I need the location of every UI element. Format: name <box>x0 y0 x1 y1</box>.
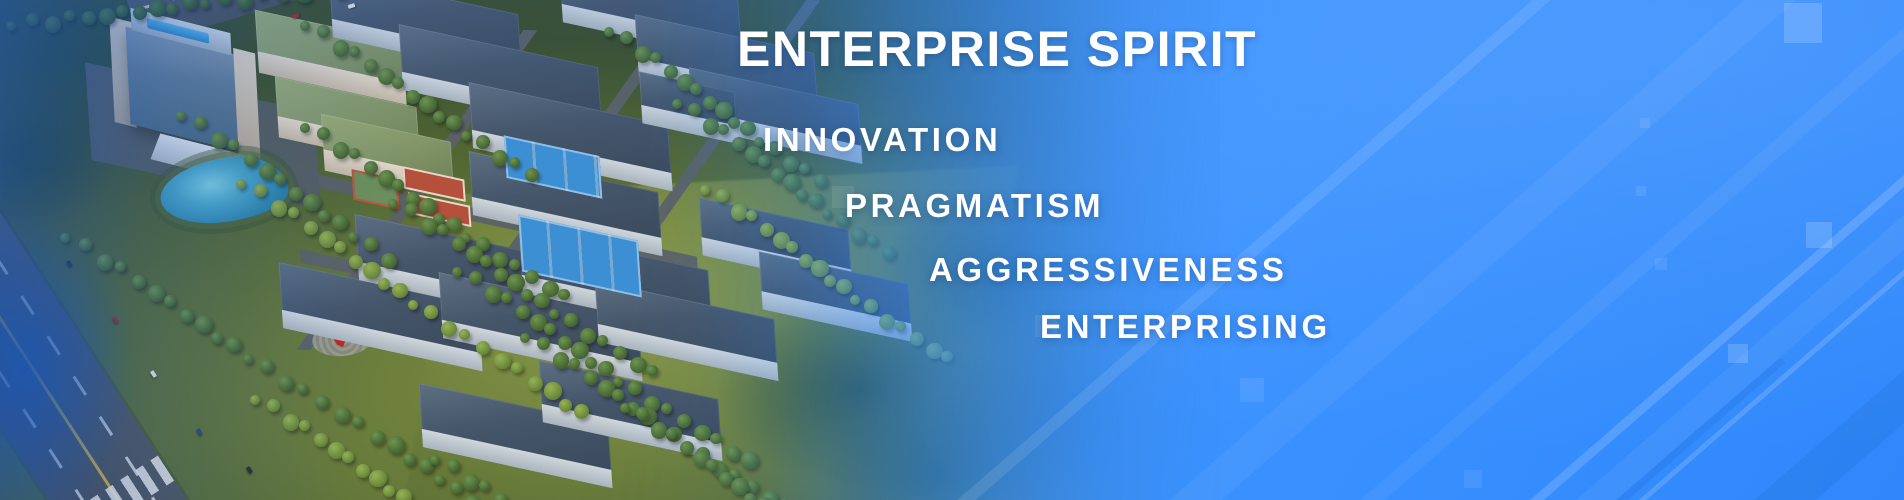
keyword-innovation: INNOVATION <box>763 123 1001 156</box>
enterprise-spirit-banner: ENTERPRISE SPIRIT INNOVATION PRAGMATISM … <box>0 0 1904 500</box>
keyword-pragmatism: PRAGMATISM <box>845 189 1104 222</box>
keyword-aggressiveness: AGGRESSIVENESS <box>929 253 1288 286</box>
page-title: ENTERPRISE SPIRIT <box>737 24 1257 74</box>
banner-copy: ENTERPRISE SPIRIT INNOVATION PRAGMATISM … <box>0 0 1904 500</box>
keyword-enterprising: ENTERPRISING <box>1040 310 1331 343</box>
